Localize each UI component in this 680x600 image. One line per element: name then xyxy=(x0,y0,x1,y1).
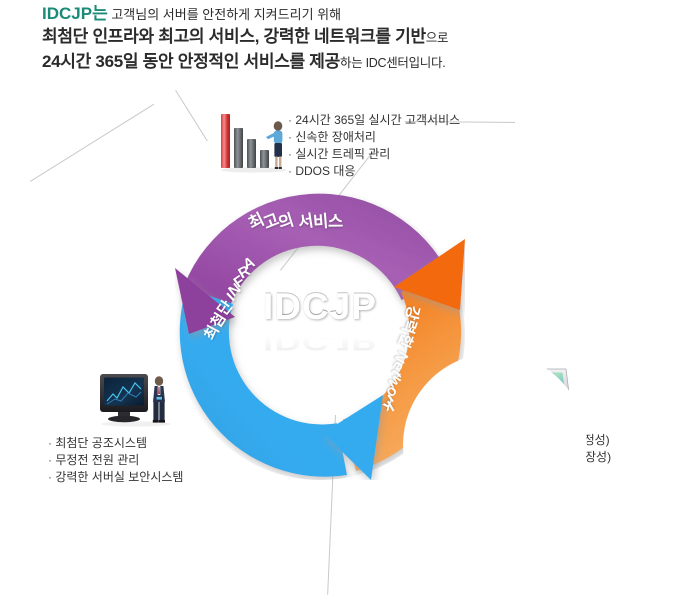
arc-label-char: 비 xyxy=(312,207,329,232)
arc-label-char: 스 xyxy=(328,208,343,232)
list-item: 무정전 전원 관리 xyxy=(48,452,183,469)
list-item: 실시간 트레픽 관리 xyxy=(288,146,460,163)
header-line-3-tail: 하는 IDC센터입니다. xyxy=(340,56,445,70)
infra-callout: 최첨단 공조시스템 무정전 전원 관리 강력한 서버실 보안시스템 xyxy=(48,435,183,486)
center-logo: IDCJP IDCJP xyxy=(228,285,412,363)
list-item: 최첨단 공조시스템 xyxy=(48,435,183,452)
leader-line-service-2 xyxy=(175,90,208,141)
header-line-3-bold: 24시간 365일 동안 안정적인 서비스를 제공 xyxy=(42,52,340,71)
list-item: 강력한 서버실 보안시스템 xyxy=(48,469,183,486)
arrowhead-infra xyxy=(323,395,383,480)
bar-chart-presenter-icon xyxy=(218,108,292,174)
header-line-3: 24시간 365일 동안 안정적인 서비스를 제공하는 IDC센터입니다. xyxy=(42,50,642,75)
service-callout: 24시간 365일 실시간 고객서비스 신속한 장애처리 실시간 트레픽 관리 … xyxy=(288,112,460,180)
header-line-2-bold: 최첨단 인프라와 최고의 서비스, 강력한 네트워크를 기반 xyxy=(42,27,426,46)
brand-suffix: 는 xyxy=(92,4,108,23)
diagram-stage: IDCJP IDCJP 최고의 서비스 강력한 Network 최첨단 INFR… xyxy=(0,80,680,600)
header-line-1-rest: 고객님의 서버를 안전하게 지켜드리기 위해 xyxy=(108,7,341,22)
infra-icon xyxy=(96,368,174,439)
list-item: 신속한 장애처리 xyxy=(288,129,460,146)
service-icon xyxy=(218,108,292,179)
header-line-2-tail: 으로 xyxy=(426,31,448,45)
infra-callout-list: 최첨단 공조시스템 무정전 전원 관리 강력한 서버실 보안시스템 xyxy=(48,435,183,486)
brand-name: IDCJP xyxy=(42,4,92,23)
list-item: DDOS 대응 xyxy=(288,163,460,180)
header-block: IDCJP는 고객님의 서버를 안전하게 지켜드리기 위해 최첨단 인프라와 최… xyxy=(42,4,642,75)
monitor-businessman-icon xyxy=(96,368,174,434)
ring-center-hole xyxy=(403,353,587,537)
segment-label-service: 최고의 서비스 xyxy=(248,208,343,232)
list-item: 24시간 365일 실시간 고객서비스 xyxy=(288,112,460,129)
service-callout-list: 24시간 365일 실시간 고객서비스 신속한 장애처리 실시간 트레픽 관리 … xyxy=(288,112,460,180)
center-logo-text: IDCJP xyxy=(263,285,377,327)
header-line-1: IDCJP는 고객님의 서버를 안전하게 지켜드리기 위해 xyxy=(42,4,642,25)
header-line-2: 최첨단 인프라와 최고의 서비스, 강력한 네트워크를 기반으로 xyxy=(42,25,642,50)
leader-line-service xyxy=(30,104,154,182)
center-logo-reflection: IDCJP xyxy=(228,329,412,355)
